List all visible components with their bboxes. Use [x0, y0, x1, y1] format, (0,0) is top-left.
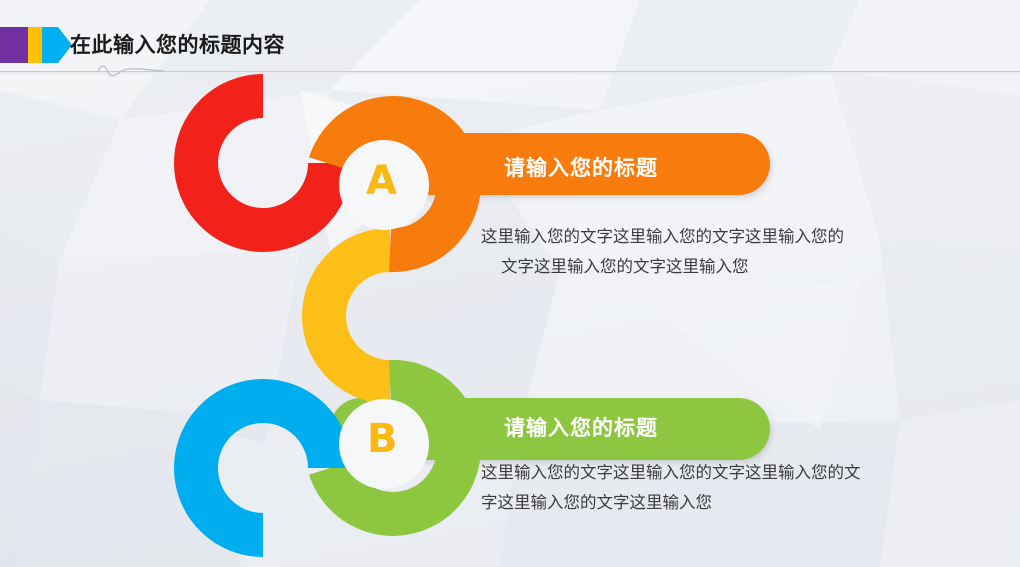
body-line: 这里输入您的文字这里输入您的文字这里输入您的文: [481, 458, 861, 488]
banner-title-b: 请输入您的标题: [504, 412, 658, 442]
body-line: 字这里输入您的文字这里输入您: [481, 488, 861, 518]
ring-blue-b: [196, 401, 330, 535]
connector-yellow-curve: [324, 250, 390, 382]
banner-title-a: 请输入您的标题: [504, 152, 658, 182]
badge-letter-b: B: [367, 419, 398, 459]
body-line: 这里输入您的文字这里输入您的文字这里输入您的: [481, 222, 844, 252]
body-text-a: 这里输入您的文字这里输入您的文字这里输入您的 文字这里输入您的文字这里输入您: [481, 222, 844, 282]
badge-letter-a: A: [366, 161, 397, 201]
ring-red-a: [196, 96, 330, 230]
body-text-b: 这里输入您的文字这里输入您的文字这里输入您的文 字这里输入您的文字这里输入您: [481, 458, 861, 518]
body-line: 文字这里输入您的文字这里输入您: [501, 252, 844, 282]
slide-canvas: 在此输入您的标题内容: [0, 0, 1020, 567]
